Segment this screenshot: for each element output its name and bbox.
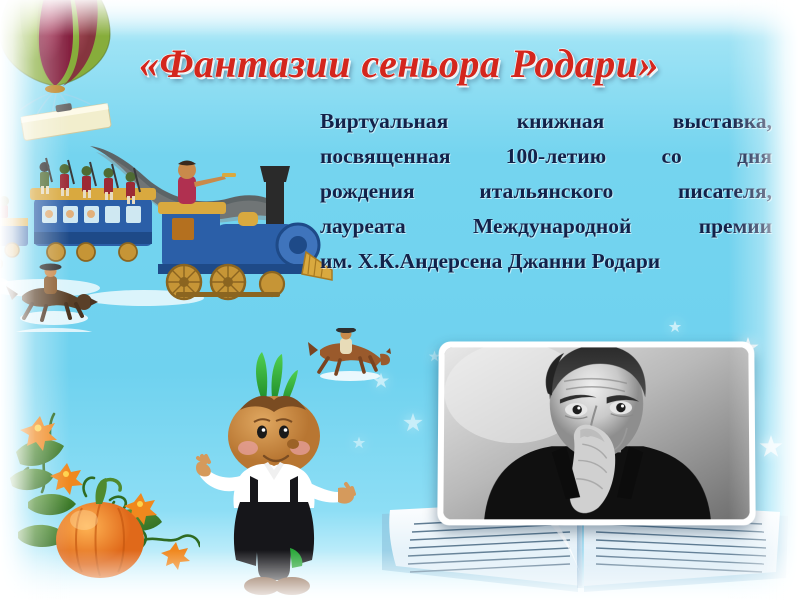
description-word: Международной [473, 209, 631, 244]
description-word: посвященная [320, 139, 451, 174]
description-line: им. Х.К.Андерсена Джанни Родари [320, 244, 772, 279]
description-word: премии [699, 209, 772, 244]
description-word: им. Х.К.Андерсена Джанни Родари [320, 244, 660, 279]
description-word: итальянского [479, 174, 613, 209]
star-icon [402, 412, 424, 434]
description-word: рождения [320, 174, 415, 209]
description-line: рождения итальянского писателя, [320, 174, 772, 209]
description-text: Виртуальная книжная выставка, посвященна… [320, 104, 772, 279]
star-icon [758, 434, 784, 460]
portrait-of-gianni-rodari [443, 347, 749, 519]
star-icon [668, 320, 682, 334]
description-word: Виртуальная [320, 104, 448, 139]
description-line: Виртуальная книжная выставка, [320, 104, 772, 139]
portrait-photo-frame [437, 341, 755, 525]
description-word: со [662, 139, 682, 174]
description-word: лауреата [320, 209, 406, 244]
cipollino-character-illustration [196, 352, 356, 596]
steam-train-illustration [0, 126, 334, 332]
description-word: выставка, [673, 104, 772, 139]
description-line: лауреата Международной премии [320, 209, 772, 244]
description-word: 100-летию [506, 139, 606, 174]
description-word: писателя, [678, 174, 772, 209]
poster-canvas: «Фантазии сеньора Родари» Виртуальная кн… [0, 0, 798, 600]
page-title: «Фантазии сеньора Родари» [0, 40, 798, 87]
description-word: книжная [517, 104, 605, 139]
pumpkin-illustration [0, 404, 200, 600]
portrait-photo-image [443, 347, 749, 519]
description-line: посвященная 100-летию со дня [320, 139, 772, 174]
description-word: дня [737, 139, 772, 174]
